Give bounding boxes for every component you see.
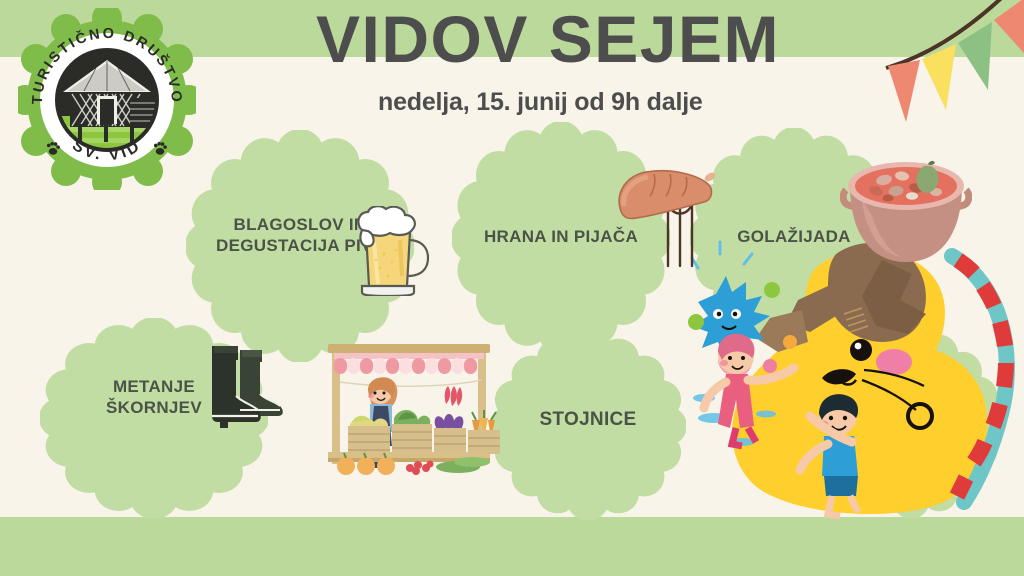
market-stall-illustration — [322, 334, 502, 476]
sausage-on-fork-illustration — [612, 160, 722, 270]
hanging-chili-peppers — [445, 386, 462, 406]
foam-drip — [360, 230, 373, 246]
stall-beam — [328, 344, 490, 353]
event-date-subtitle: nedelja, 15. junij od 9h dalje — [378, 88, 918, 117]
bunting-flag — [994, 0, 1024, 62]
blob-label-stojnice: STOJNICE — [490, 408, 686, 432]
blob-stojnice: STOJNICE — [490, 332, 686, 520]
bunting-flag — [958, 22, 992, 90]
mug-handle — [408, 240, 428, 276]
beer-mug-illustration — [352, 206, 434, 296]
bunting-flag — [922, 44, 956, 110]
bottom-green-band — [0, 517, 1024, 576]
page-title: VIDOV SEJEM — [248, 6, 848, 72]
goulash-pot-illustration — [840, 160, 972, 268]
bunting-flags — [848, 0, 1024, 126]
sausage-body — [619, 171, 711, 219]
bunting-flag — [888, 60, 920, 122]
poster-canvas: TURISTIČNO DRUŠTVO SV. VID VIDOV SEJEM n… — [0, 0, 1024, 576]
stall-awning — [334, 353, 484, 374]
club-logo: TURISTIČNO DRUŠTVO SV. VID — [18, 8, 196, 190]
inflatable-playground-illustration — [686, 230, 1024, 520]
inflatable-eye — [850, 339, 872, 361]
hanging-string — [340, 380, 482, 386]
boot-cuff — [214, 346, 238, 353]
rubber-boots-illustration — [198, 340, 290, 432]
mug-base — [362, 286, 414, 296]
